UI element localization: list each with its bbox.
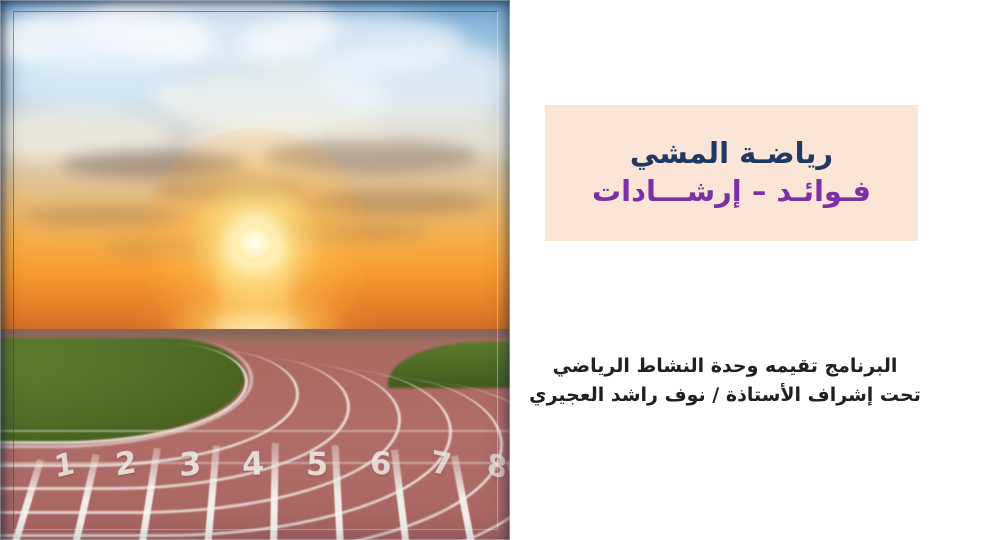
title-primary: رياضـة المشي bbox=[630, 138, 833, 170]
sun-icon bbox=[235, 223, 275, 263]
lane-number: 4 bbox=[242, 444, 266, 483]
track-cross-line bbox=[0, 430, 510, 432]
title-box: رياضـة المشي فـوائـد – إرشـــادات bbox=[545, 105, 918, 241]
credits-block: البرنامج تقيمه وحدة النشاط الرياضي تحت إ… bbox=[500, 352, 950, 411]
lane-number: 3 bbox=[178, 444, 201, 484]
lane-number: 1 bbox=[52, 446, 76, 486]
lane-number: 6 bbox=[369, 444, 392, 482]
lane-number: 5 bbox=[305, 444, 329, 483]
sunset-running-track-photo: 1 2 3 4 5 6 7 8 bbox=[0, 0, 510, 540]
lane-number: 2 bbox=[114, 444, 138, 484]
photo-frame: 1 2 3 4 5 6 7 8 bbox=[0, 0, 510, 540]
lane-number: 7 bbox=[430, 445, 453, 484]
credit-organizer: البرنامج تقيمه وحدة النشاط الرياضي bbox=[500, 352, 950, 381]
title-subtitle: فـوائـد – إرشـــادات bbox=[592, 176, 871, 208]
presentation-slide: 1 2 3 4 5 6 7 8 رياضـة المشي فـوائـد – إ… bbox=[0, 0, 983, 540]
lane-number: 8 bbox=[486, 447, 509, 487]
credit-supervisor: تحت إشراف الأستاذة / نوف راشد العجيري bbox=[500, 381, 950, 410]
running-track: 1 2 3 4 5 6 7 8 bbox=[0, 329, 510, 540]
